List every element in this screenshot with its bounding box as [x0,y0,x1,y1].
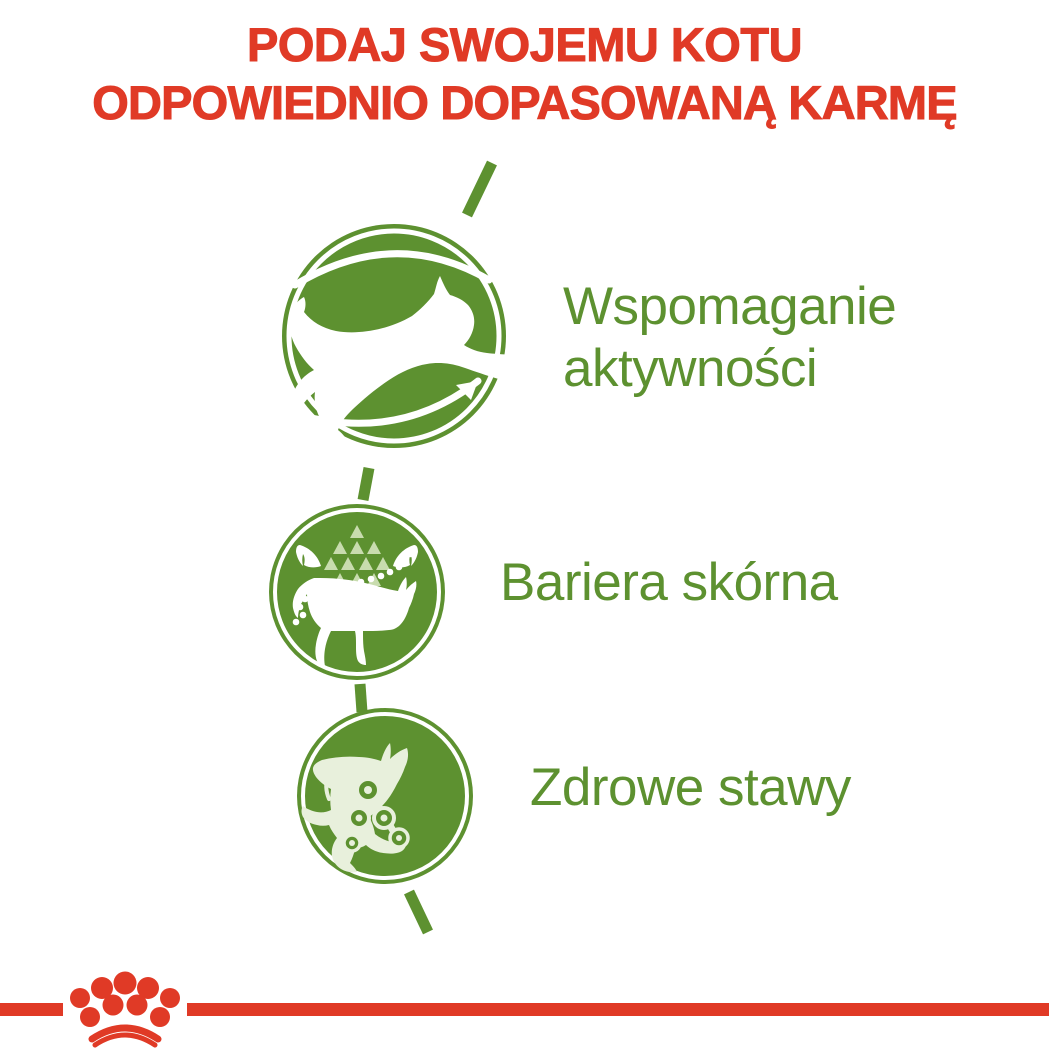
joints-bone-links [350,790,395,841]
barrier-leaves [296,545,418,567]
feature-label-activity: Wspomaganie aktywności [563,276,896,400]
poster-root: PODAJ SWOJEMU KOTU ODPOWIEDNIO DOPASOWAN… [0,0,1049,1049]
feature-circle-0 [282,224,506,448]
barrier-triangles [324,525,390,601]
activity-arc-bottom [299,381,478,423]
footer-rule-right [187,1003,1049,1016]
feature-circle-0-inner-ring [289,231,499,441]
feature-label-skin-barrier: Bariera skórna [500,552,838,614]
feature-icon-2 [297,708,473,884]
feature-circle-1-inner-ring [275,510,439,674]
royal-canin-crown-icon [70,972,180,1046]
feature-circle-2 [297,708,473,884]
standing-cat-silhouette [293,577,417,666]
headline-line-2: ODPOWIEDNIO DOPASOWANĄ KARMĘ [0,74,1049,132]
joints-rib-lines [326,774,355,800]
barrier-dotted-line [293,551,415,626]
feature-circle-2-inner-ring [303,714,467,878]
activity-arrow-head [456,381,478,400]
feature-icon-0 [282,224,520,486]
headline-line-1: PODAJ SWOJEMU KOTU [0,16,1049,74]
feature-icon-1 [269,504,445,680]
activity-arc-top [295,254,489,285]
connector-dash-2-3 [360,684,362,712]
connector-dash-1-2 [363,468,369,500]
connector-dash-top [467,163,492,215]
joints-markers [344,779,408,851]
benefits-diagram [0,0,1049,1049]
brand-footer [0,941,1049,1049]
page-title: PODAJ SWOJEMU KOTU ODPOWIEDNIO DOPASOWAN… [0,16,1049,132]
footer-rule-left [0,1003,63,1016]
connector-dashes [360,163,492,932]
joints-cat-skeleton [302,743,409,872]
feature-circle-1 [269,504,445,680]
feature-label-joints: Zdrowe stawy [530,757,851,819]
connector-dash-bottom [409,892,428,932]
leaping-cat-silhouette [289,276,520,486]
